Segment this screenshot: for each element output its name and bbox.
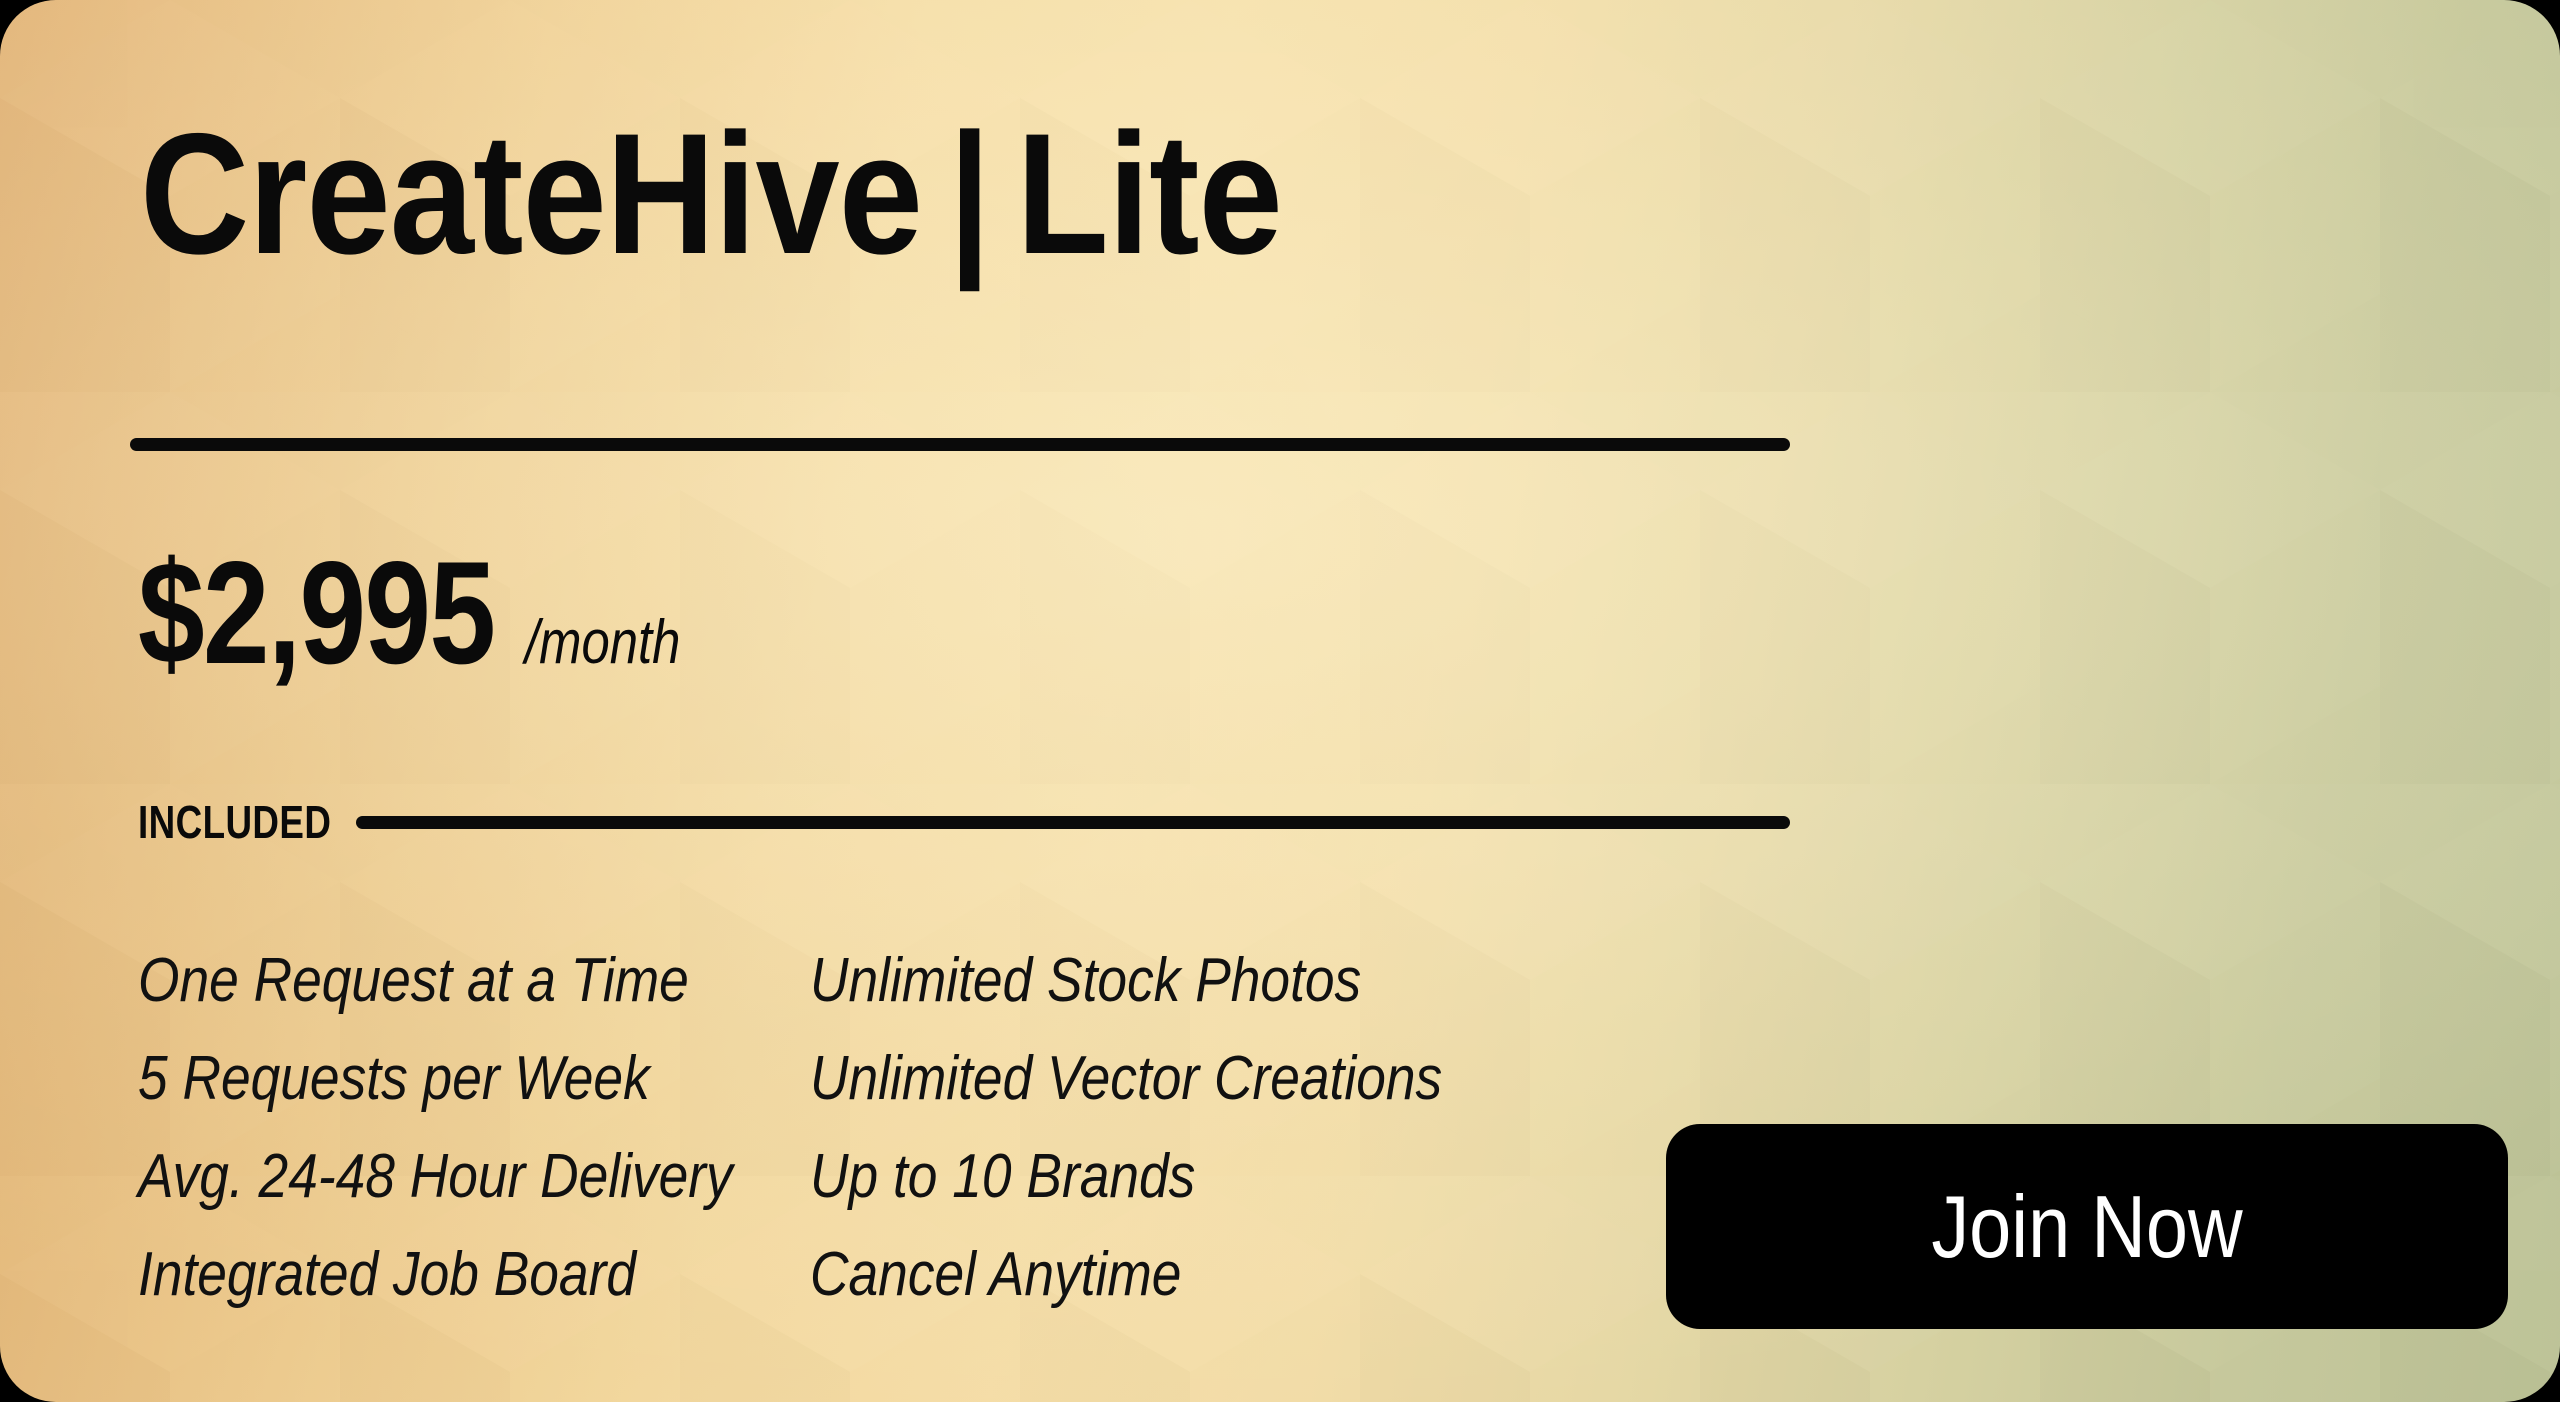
price-row: $2,995 /month <box>138 540 714 686</box>
list-item: Unlimited Vector Creations <box>810 1030 1412 1128</box>
title-divider <box>130 438 1790 451</box>
list-item: Up to 10 Brands <box>810 1128 1412 1226</box>
brand-name: CreateHive <box>140 98 922 290</box>
included-divider <box>356 816 1790 829</box>
join-now-label: Join Now <box>1931 1183 2242 1271</box>
title-separator: | <box>922 108 1016 280</box>
included-label: INCLUDED <box>138 795 331 849</box>
join-now-button[interactable]: Join Now <box>1666 1124 2508 1329</box>
price-amount: $2,995 <box>138 540 494 686</box>
feature-column-right: Unlimited Stock Photos Unlimited Vector … <box>810 932 1510 1324</box>
price-period: /month <box>525 612 680 674</box>
list-item: Unlimited Stock Photos <box>810 932 1412 1030</box>
list-item: Avg. 24-48 Hour Delivery <box>138 1128 716 1226</box>
included-header: INCLUDED <box>138 795 1790 849</box>
list-item: Integrated Job Board <box>138 1226 716 1324</box>
list-item: One Request at a Time <box>138 932 716 1030</box>
feature-list: One Request at a Time 5 Requests per Wee… <box>138 932 1510 1324</box>
list-item: Cancel Anytime <box>810 1226 1412 1324</box>
feature-column-left: One Request at a Time 5 Requests per Wee… <box>138 932 810 1324</box>
card-content: CreateHive|Lite $2,995 /month INCLUDED O… <box>0 0 2560 1402</box>
tier-name: Lite <box>1016 98 1282 290</box>
pricing-card: CreateHive|Lite $2,995 /month INCLUDED O… <box>0 0 2560 1402</box>
page-title: CreateHive|Lite <box>140 108 1282 280</box>
list-item: 5 Requests per Week <box>138 1030 716 1128</box>
